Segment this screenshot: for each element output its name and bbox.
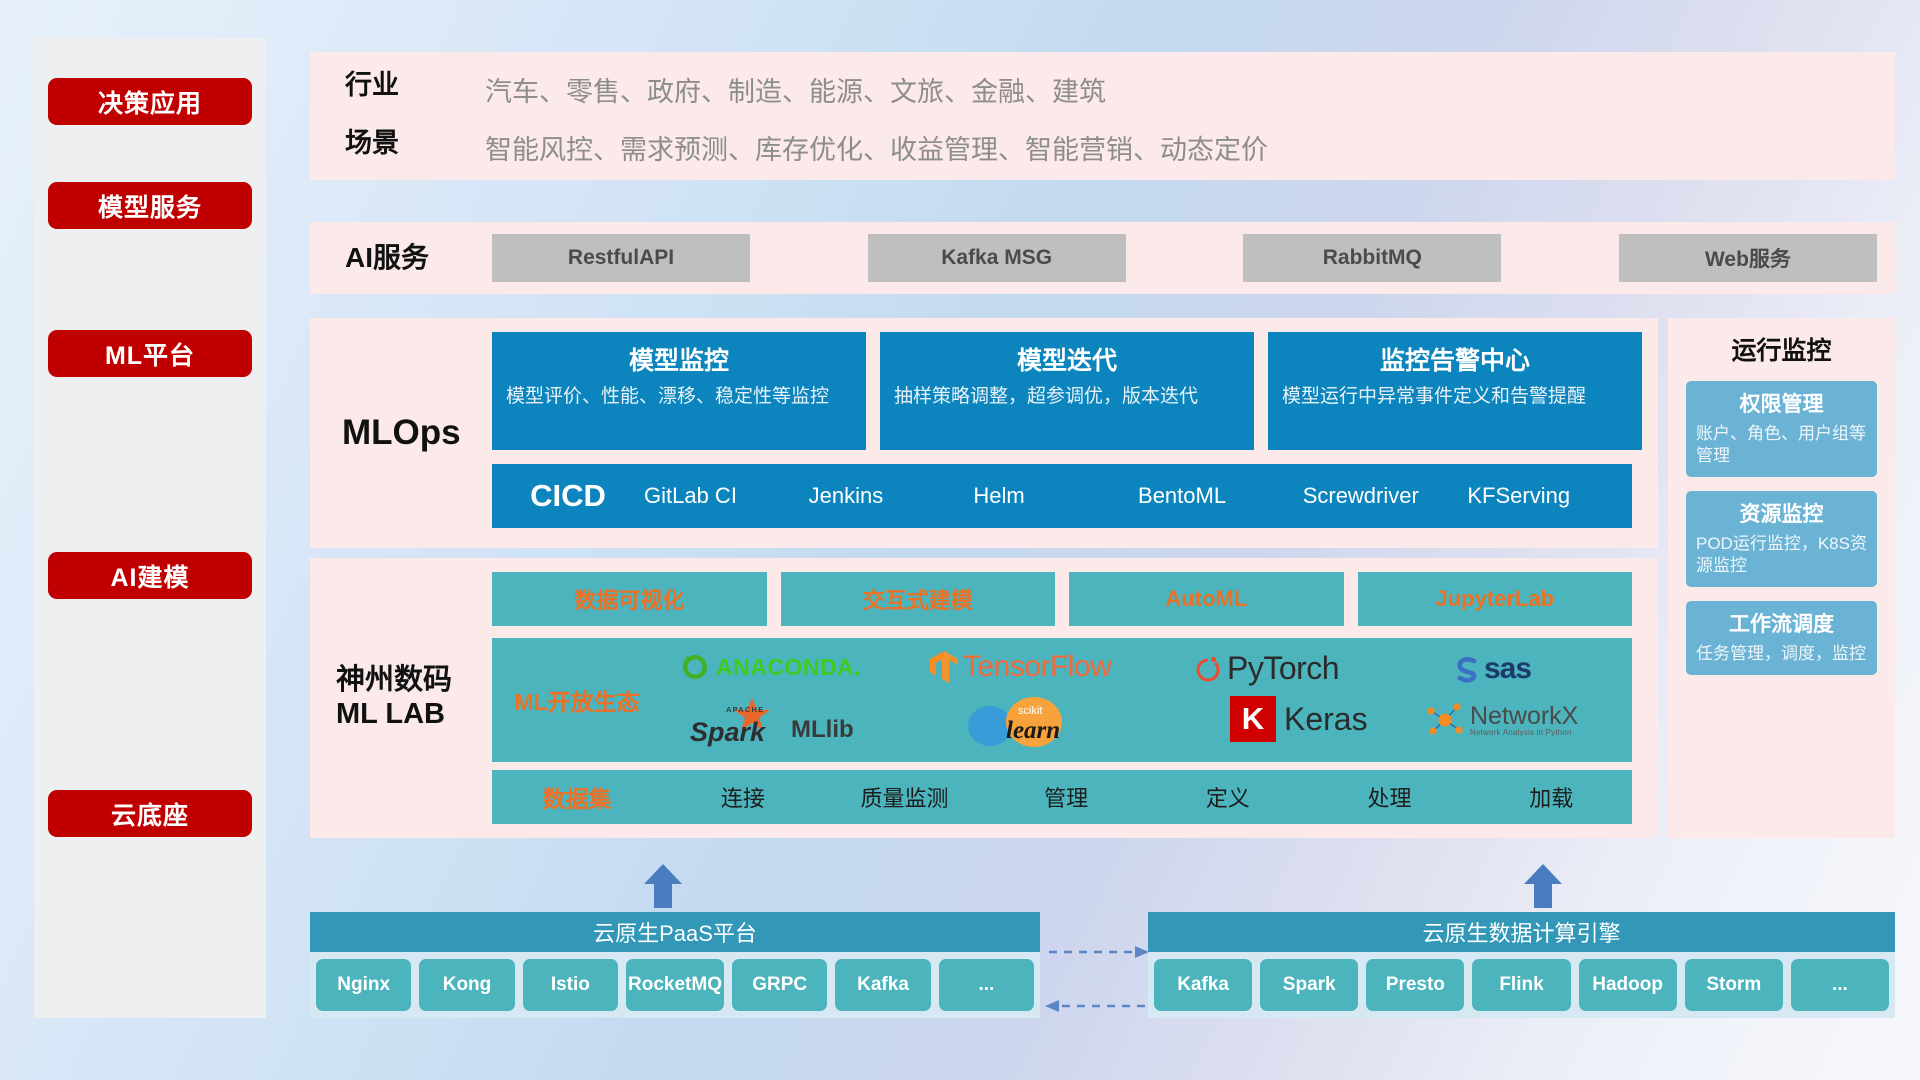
- keras-mark-icon: K: [1230, 696, 1276, 742]
- monitor-card-resource[interactable]: 资源监控 POD运行监控，K8S资源监控: [1686, 491, 1877, 587]
- dataset-item[interactable]: 定义: [1147, 781, 1309, 813]
- stage-pill-label: 云底座: [111, 796, 189, 832]
- cloud-paas-group: 云原生PaaS平台 Nginx Kong Istio RocketMQ GRPC…: [310, 912, 1040, 1018]
- spark-mark-icon: APACHE Spark: [690, 696, 786, 748]
- monitor-card-desc: 账户、角色、用户组等管理: [1696, 423, 1867, 467]
- anaconda-logo: ANACONDA.: [680, 652, 861, 682]
- runtime-monitoring-title: 运行监控: [1668, 318, 1895, 367]
- keras-wordmark: Keras: [1284, 701, 1368, 738]
- cloud-compute-group: 云原生数据计算引擎 Kafka Spark Presto Flink Hadoo…: [1148, 912, 1895, 1018]
- monitor-card-desc: 任务管理，调度，监控: [1696, 643, 1867, 665]
- mllib-wordmark: MLlib: [791, 716, 854, 748]
- svg-text:learn: learn: [1006, 717, 1060, 744]
- tensorflow-wordmark: TensorFlow: [963, 650, 1111, 684]
- dataset-item-list: 连接 质量监测 管理 定义 处理 加载: [662, 781, 1632, 813]
- cicd-title: CICD: [492, 478, 644, 514]
- up-arrow-icon-paas: [640, 862, 686, 908]
- mlops-band: MLOps 模型监控 模型评价、性能、漂移、稳定性等监控 模型迭代 抽样策略调整…: [310, 318, 1658, 548]
- ai-service-chip-list: RestfulAPI Kafka MSG RabbitMQ Web服务: [492, 234, 1877, 282]
- sas-mark-icon: [1452, 654, 1482, 684]
- mlops-card-title: 模型监控: [506, 341, 852, 377]
- monitor-card-workflow[interactable]: 工作流调度 任务管理，调度，监控: [1686, 601, 1877, 675]
- cicd-item[interactable]: KFServing: [1467, 483, 1632, 508]
- networkx-logo: NetworkX Network Analysis in Python: [1424, 700, 1578, 740]
- mlops-card-model-monitoring[interactable]: 模型监控 模型评价、性能、漂移、稳定性等监控: [492, 332, 866, 450]
- up-arrow-icon-compute: [1520, 862, 1566, 908]
- cloud-chip-presto[interactable]: Presto: [1366, 959, 1464, 1011]
- monitor-card-desc: POD运行监控，K8S资源监控: [1696, 533, 1867, 577]
- bidirectional-connector: [1045, 930, 1149, 1026]
- stage-pill-label: ML平台: [105, 336, 195, 372]
- stage-pill-label: 决策应用: [98, 84, 202, 120]
- stage-pill-model-service[interactable]: 模型服务: [48, 182, 252, 229]
- monitor-card-title: 工作流调度: [1696, 608, 1867, 638]
- networkx-tagline: Network Analysis in Python: [1470, 729, 1578, 737]
- tool-chip-jupyterlab[interactable]: JupyterLab: [1358, 572, 1633, 626]
- cloud-chip-kafka[interactable]: Kafka: [1154, 959, 1252, 1011]
- industry-scenario-band: 行业 汽车、零售、政府、制造、能源、文旅、金融、建筑 场景 智能风控、需求预测、…: [310, 52, 1895, 180]
- networkx-mark-icon: [1424, 700, 1466, 740]
- tool-chip-interactive-modeling[interactable]: 交互式建模: [781, 572, 1056, 626]
- cicd-item[interactable]: Helm: [973, 483, 1138, 508]
- svg-text:scikit: scikit: [1018, 705, 1042, 717]
- ml-lab-label: 神州数码 ML LAB: [336, 558, 452, 838]
- dataset-item[interactable]: 质量监测: [824, 781, 986, 813]
- ai-service-label: AI服务: [345, 222, 429, 294]
- cicd-item-list: GitLab CI Jenkins Helm BentoML Screwdriv…: [644, 483, 1632, 508]
- mlops-card-list: 模型监控 模型评价、性能、漂移、稳定性等监控 模型迭代 抽样策略调整，超参调优，…: [492, 332, 1642, 450]
- ai-service-chip[interactable]: Web服务: [1619, 234, 1877, 282]
- modeling-tool-chip-list: 数据可视化 交互式建模 AutoML JupyterLab: [492, 572, 1632, 626]
- cloud-chip-nginx[interactable]: Nginx: [316, 959, 411, 1011]
- svg-text:APACHE: APACHE: [726, 705, 764, 714]
- scenario-row-label: 场景: [345, 120, 465, 168]
- scikit-learn-logo: scikit learn: [962, 694, 1102, 750]
- mlops-card-desc: 抽样策略调整，超参调优，版本迭代: [894, 384, 1240, 409]
- tool-chip-data-visualization[interactable]: 数据可视化: [492, 572, 767, 626]
- anaconda-wordmark: ANACONDA.: [716, 654, 861, 681]
- sas-wordmark: sas: [1484, 652, 1531, 686]
- anaconda-mark-icon: [680, 652, 710, 682]
- stage-pill-label: 模型服务: [98, 188, 202, 224]
- sas-logo: sas: [1452, 652, 1531, 686]
- runtime-monitoring-column: 运行监控 权限管理 账户、角色、用户组等管理 资源监控 POD运行监控，K8S资…: [1668, 318, 1895, 838]
- industry-values: 汽车、零售、政府、制造、能源、文旅、金融、建筑: [485, 70, 1106, 109]
- cloud-paas-title: 云原生PaaS平台: [310, 912, 1040, 952]
- cicd-item[interactable]: Screwdriver: [1303, 483, 1468, 508]
- cicd-item[interactable]: BentoML: [1138, 483, 1303, 508]
- cloud-compute-title: 云原生数据计算引擎: [1148, 912, 1895, 952]
- cloud-chip-more[interactable]: ...: [939, 959, 1034, 1011]
- stage-label-column: 决策应用 模型服务 ML平台 AI建模 云底座: [34, 38, 266, 1018]
- industry-row-label: 行业: [345, 62, 465, 110]
- cloud-paas-chip-list: Nginx Kong Istio RocketMQ GRPC Kafka ...: [310, 952, 1040, 1018]
- tensorflow-logo: TensorFlow: [928, 650, 1111, 684]
- dataset-bar: 数据集 连接 质量监测 管理 定义 处理 加载: [492, 770, 1632, 824]
- cloud-chip-hadoop[interactable]: Hadoop: [1579, 959, 1677, 1011]
- mlops-card-desc: 模型运行中异常事件定义和告警提醒: [1282, 384, 1628, 409]
- svg-text:Spark: Spark: [690, 717, 767, 747]
- monitor-card-title: 权限管理: [1696, 388, 1867, 418]
- tool-chip-automl[interactable]: AutoML: [1069, 572, 1344, 626]
- dataset-item[interactable]: 连接: [662, 781, 824, 813]
- cloud-chip-more[interactable]: ...: [1791, 959, 1889, 1011]
- keras-logo: K Keras: [1230, 696, 1368, 742]
- dataset-item[interactable]: 处理: [1309, 781, 1471, 813]
- monitor-card-title: 资源监控: [1696, 498, 1867, 528]
- cloud-compute-chip-list: Kafka Spark Presto Flink Hadoop Storm ..…: [1148, 952, 1895, 1018]
- dataset-item[interactable]: 管理: [985, 781, 1147, 813]
- cicd-item[interactable]: Jenkins: [809, 483, 974, 508]
- spark-mllib-logo: APACHE Spark MLlib: [690, 696, 854, 748]
- ml-ecosystem-logo-grid: ANACONDA. APACHE Spark MLlib: [662, 638, 1632, 762]
- mlops-card-alert-center[interactable]: 监控告警中心 模型运行中异常事件定义和告警提醒: [1268, 332, 1642, 450]
- ai-modeling-band: 神州数码 ML LAB 数据可视化 交互式建模 AutoML JupyterLa…: [310, 558, 1658, 838]
- cloud-chip-kong[interactable]: Kong: [419, 959, 514, 1011]
- dataset-item[interactable]: 加载: [1470, 781, 1632, 813]
- stage-pill-label: AI建模: [110, 558, 189, 594]
- mlops-card-model-iteration[interactable]: 模型迭代 抽样策略调整，超参调优，版本迭代: [880, 332, 1254, 450]
- ml-ecosystem-band: ML开放生态 ANACONDA.: [492, 638, 1632, 762]
- keras-mark-letter: K: [1242, 701, 1264, 737]
- cloud-chip-spark[interactable]: Spark: [1260, 959, 1358, 1011]
- cloud-chip-istio[interactable]: Istio: [523, 959, 618, 1011]
- stage-pill-ml-platform[interactable]: ML平台: [48, 330, 252, 377]
- stage-pill-cloud-base[interactable]: 云底座: [48, 790, 252, 837]
- stage-pill-ai-modeling[interactable]: AI建模: [48, 552, 252, 599]
- pytorch-wordmark: PyTorch: [1227, 650, 1339, 687]
- mlops-card-title: 模型迭代: [894, 341, 1240, 377]
- scenario-values: 智能风控、需求预测、库存优化、收益管理、智能营销、动态定价: [485, 128, 1268, 167]
- monitor-card-permission[interactable]: 权限管理 账户、角色、用户组等管理: [1686, 381, 1877, 477]
- cloud-chip-kafka[interactable]: Kafka: [835, 959, 930, 1011]
- pytorch-mark-icon: [1194, 653, 1222, 685]
- cloud-chip-grpc[interactable]: GRPC: [732, 959, 827, 1011]
- mlops-card-title: 监控告警中心: [1282, 341, 1628, 377]
- cicd-bar: CICD GitLab CI Jenkins Helm BentoML Scre…: [492, 464, 1632, 528]
- ai-service-chip[interactable]: RabbitMQ: [1243, 234, 1501, 282]
- cloud-chip-storm[interactable]: Storm: [1685, 959, 1783, 1011]
- cloud-chip-flink[interactable]: Flink: [1472, 959, 1570, 1011]
- ml-lab-label-line1: 神州数码: [336, 664, 452, 698]
- mlops-label: MLOps: [342, 318, 461, 548]
- cicd-item[interactable]: GitLab CI: [644, 483, 809, 508]
- tensorflow-mark-icon: [928, 650, 960, 684]
- stage-pill-decision[interactable]: 决策应用: [48, 78, 252, 125]
- pytorch-logo: PyTorch: [1194, 650, 1339, 687]
- ai-service-chip[interactable]: Kafka MSG: [868, 234, 1126, 282]
- cloud-chip-rocketmq[interactable]: RocketMQ: [626, 959, 724, 1011]
- ml-lab-label-line2: ML LAB: [336, 698, 452, 732]
- ai-service-band: AI服务 RestfulAPI Kafka MSG RabbitMQ Web服务: [310, 222, 1895, 294]
- mlops-card-desc: 模型评价、性能、漂移、稳定性等监控: [506, 384, 852, 409]
- ai-service-chip[interactable]: RestfulAPI: [492, 234, 750, 282]
- dataset-title: 数据集: [492, 780, 662, 814]
- networkx-wordmark: NetworkX: [1470, 704, 1578, 729]
- ml-ecosystem-label: ML开放生态: [492, 683, 662, 717]
